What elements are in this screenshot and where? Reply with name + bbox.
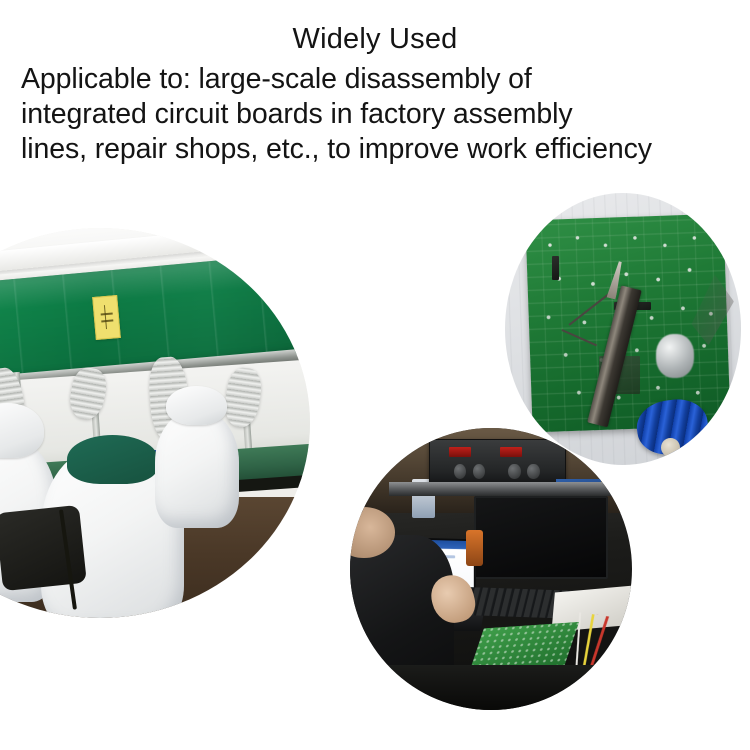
factory-chair	[0, 505, 87, 591]
photo-repair-shop	[350, 428, 632, 710]
worker-cap	[166, 386, 226, 426]
repair-shop-bench-front	[350, 665, 632, 710]
pcb-scene	[505, 193, 741, 465]
pcb-component	[552, 256, 559, 280]
factory-yellow-sign	[92, 295, 121, 340]
bench-power-supply	[429, 439, 566, 486]
repair-shop-monitor	[474, 496, 608, 579]
photo-collage	[0, 0, 750, 750]
psu-knob-icon	[473, 464, 485, 479]
pcb-solder-joint	[656, 334, 694, 378]
repair-shop-shelf	[389, 482, 615, 496]
soldering-iron-collar	[661, 438, 680, 457]
photo-factory-assembly-line	[0, 228, 310, 618]
factory-worker	[155, 411, 239, 528]
factory-scene	[0, 228, 310, 618]
repair-shop-scene	[350, 428, 632, 710]
worker-coat	[155, 411, 239, 528]
psu-knob-icon	[508, 464, 520, 479]
psu-knob-icon	[527, 464, 539, 479]
repair-shop-capacitor	[466, 530, 483, 567]
psu-display	[500, 447, 522, 457]
worker-green-hood	[67, 435, 158, 484]
photo-pcb-soldering	[505, 193, 741, 465]
psu-display	[449, 447, 471, 457]
sign-glyph-icon	[99, 305, 113, 330]
psu-knob-icon	[454, 464, 466, 479]
